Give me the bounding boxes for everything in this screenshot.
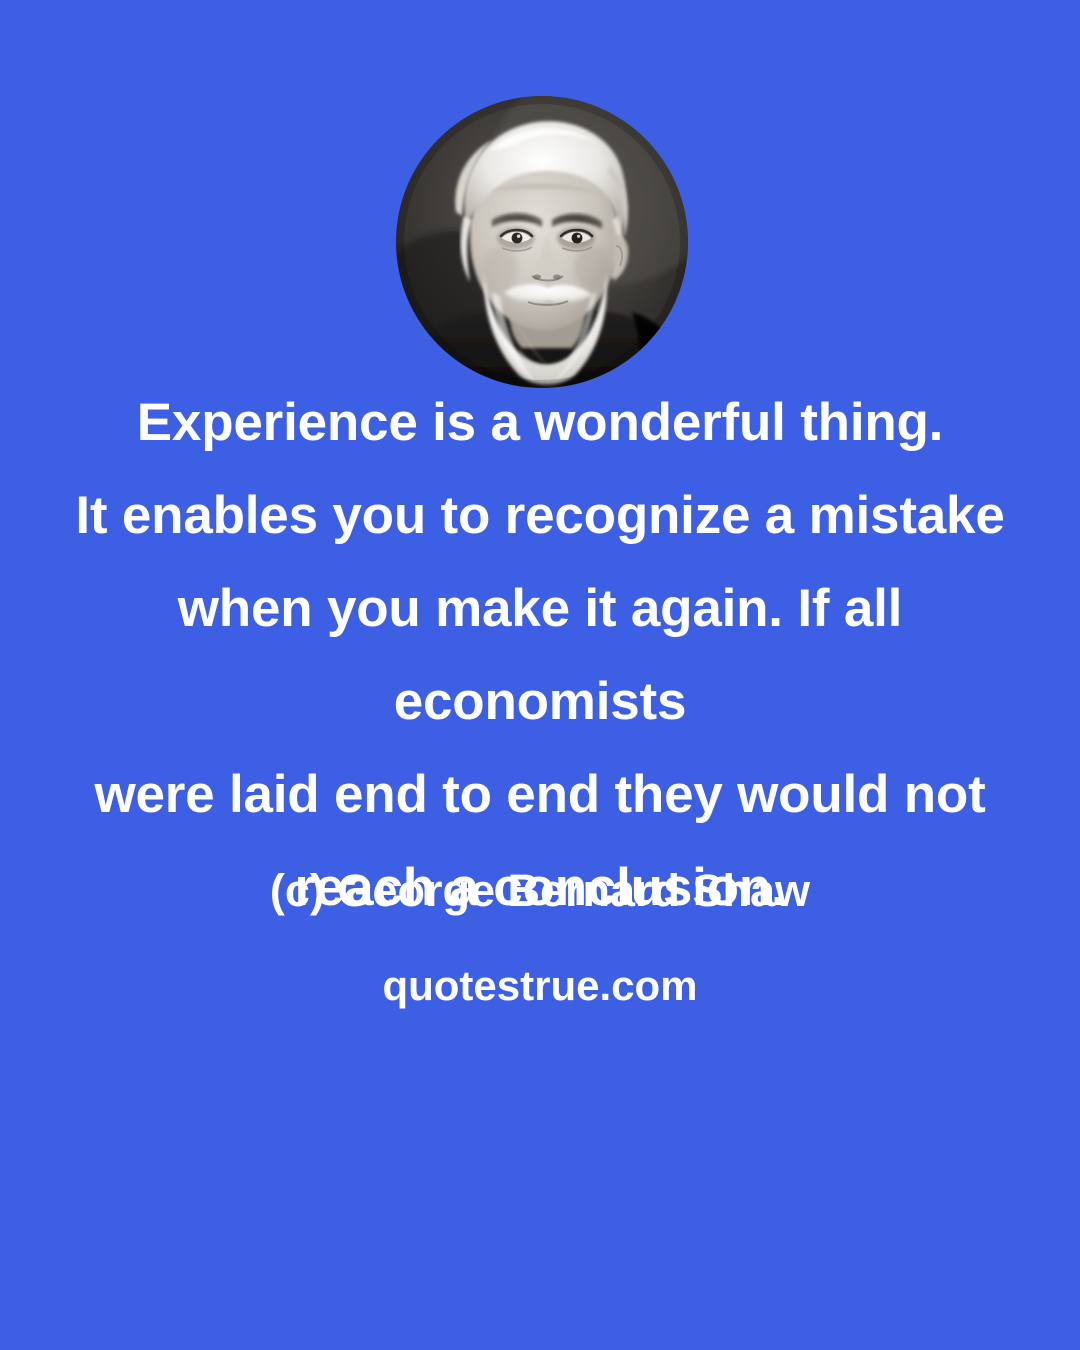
source-website-label: quotestrue.com — [30, 957, 1050, 1015]
quote-card: Experience is a wonderful thing. It enab… — [0, 0, 1080, 1350]
quote-line-3: when you make it again. If all economist… — [30, 562, 1050, 748]
bottom-empty-area — [0, 1040, 1080, 1350]
quote-line-2: It enables you to recognize a mistake — [30, 469, 1050, 562]
quote-text: Experience is a wonderful thing. It enab… — [30, 376, 1050, 934]
quote-attribution: (c) George Bernard Shaw — [30, 861, 1050, 921]
quote-line-1: Experience is a wonderful thing. — [30, 376, 1050, 469]
author-portrait-photo — [396, 96, 688, 388]
author-portrait-container — [396, 96, 688, 388]
quote-line-4: were laid end to end they would not — [30, 748, 1050, 841]
